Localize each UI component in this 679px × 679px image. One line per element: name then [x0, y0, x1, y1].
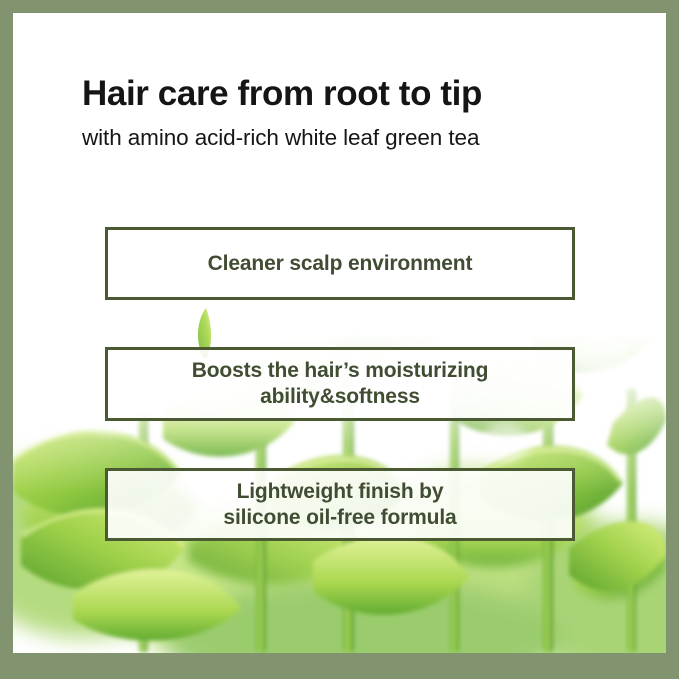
page-subtitle: with amino acid-rich white leaf green te… [82, 124, 622, 151]
poster-canvas: Hair care from root to tip with amino ac… [13, 13, 666, 653]
poster-frame: Hair care from root to tip with amino ac… [0, 0, 679, 679]
page-title: Hair care from root to tip [82, 74, 602, 113]
benefit-box-3: Lightweight finish by silicone oil-free … [105, 468, 575, 541]
benefit-box-1: Cleaner scalp environment [105, 227, 575, 300]
benefit-box-2: Boosts the hair’s moisturizing ability&s… [105, 347, 575, 421]
benefit-box-3-label: Lightweight finish by silicone oil-free … [215, 479, 464, 530]
benefit-box-1-label: Cleaner scalp environment [200, 251, 481, 277]
benefit-box-2-label: Boosts the hair’s moisturizing ability&s… [184, 358, 497, 409]
